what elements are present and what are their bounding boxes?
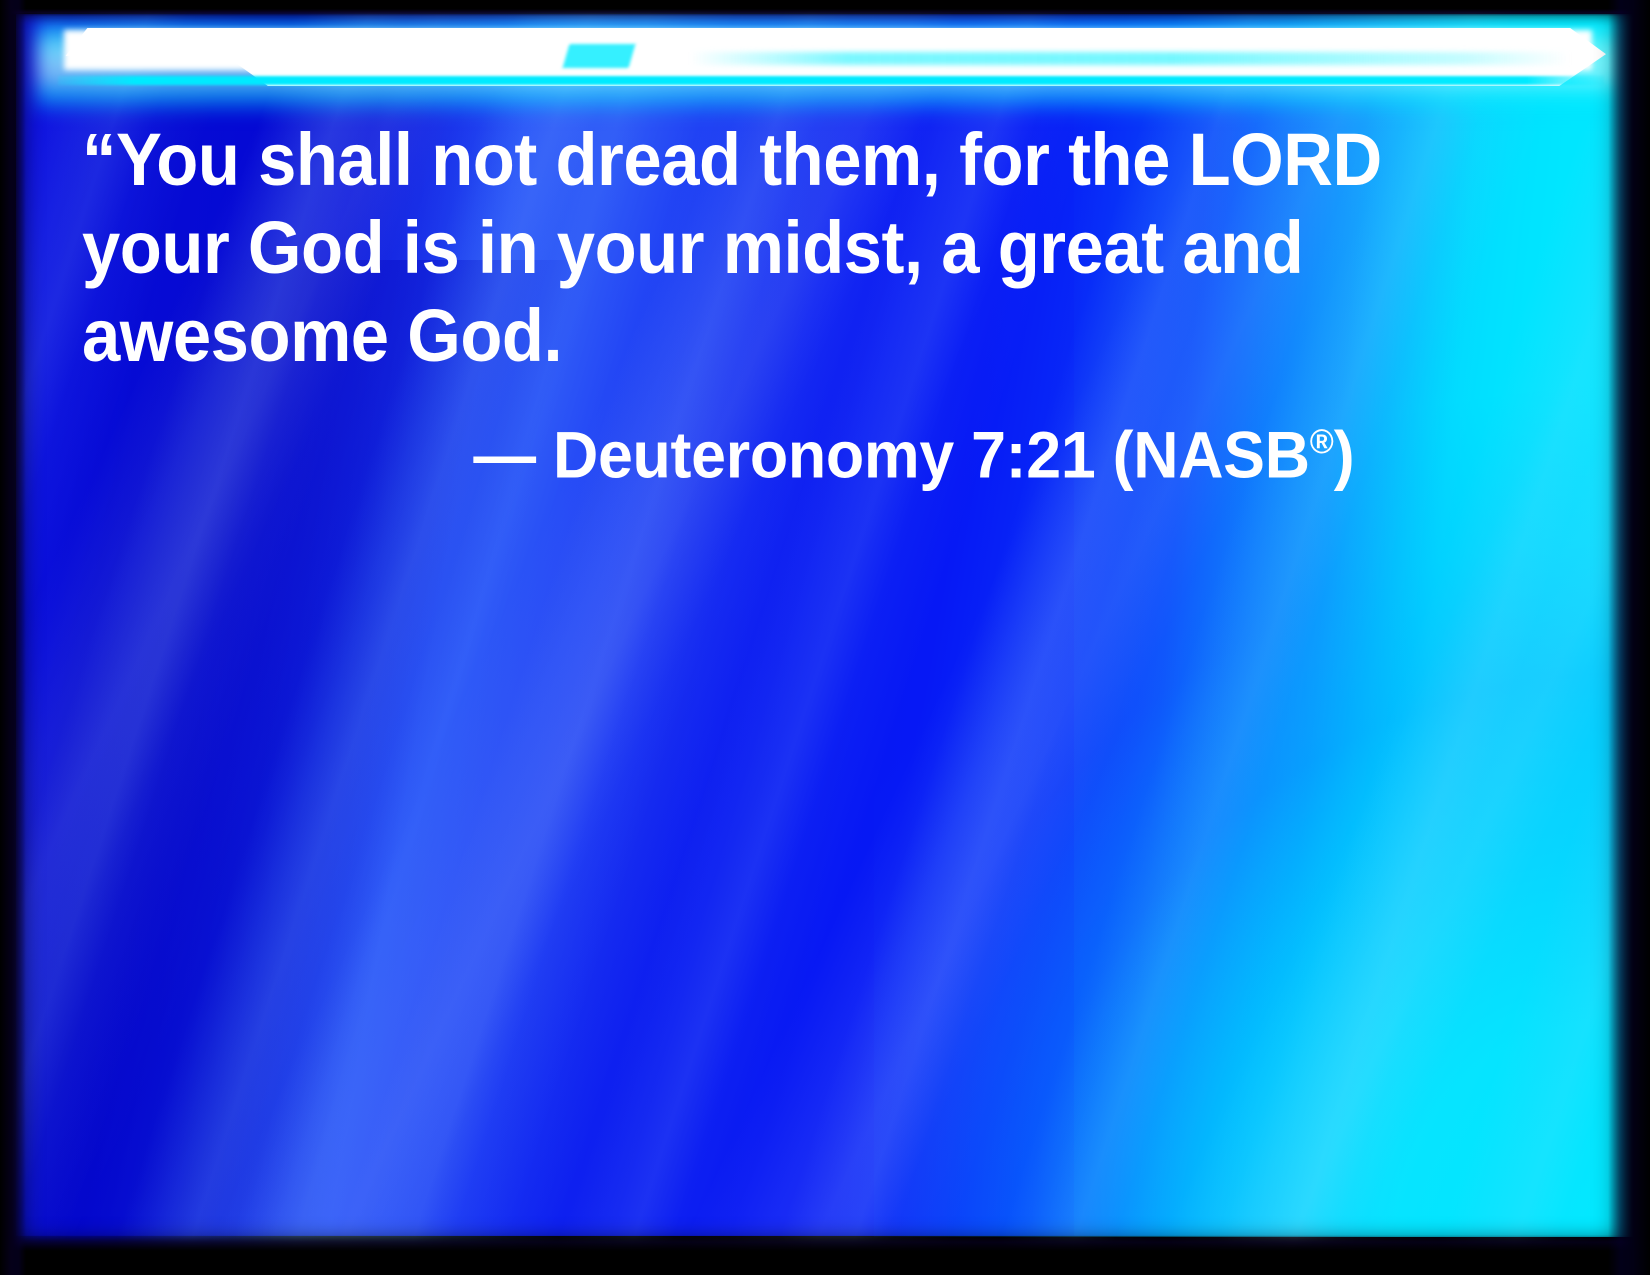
- slide-frame-bottom: [0, 1235, 1650, 1275]
- slide-frame-right: [1608, 0, 1650, 1275]
- attribution-em-dash: —: [473, 418, 535, 492]
- attribution-book: Deuteronomy: [553, 418, 954, 492]
- verse-text-block: “You shall not dread them, for the LORD …: [82, 116, 1532, 497]
- attribution-translation-open: (NASB: [1113, 418, 1310, 492]
- slide-frame-top: [0, 0, 1650, 16]
- verse-line-3: awesome God.: [82, 292, 1431, 380]
- verse-line-2: your God is in your midst, a great and: [82, 204, 1431, 292]
- verse-line-1: “You shall not dread them, for the LORD: [82, 116, 1431, 204]
- top-glow-underline: [58, 76, 1604, 85]
- top-glow-notch: [563, 44, 636, 68]
- attribution-translation-close: ): [1334, 418, 1355, 492]
- slide-frame-left: [0, 0, 26, 1275]
- scripture-slide: “You shall not dread them, for the LORD …: [0, 0, 1650, 1275]
- verse-attribution: — Deuteronomy 7:21 (NASB®): [82, 400, 1460, 497]
- registered-trademark-icon: ®: [1310, 423, 1334, 461]
- top-glow-inner-streak: [690, 52, 1570, 65]
- attribution-reference: 7:21: [971, 418, 1095, 492]
